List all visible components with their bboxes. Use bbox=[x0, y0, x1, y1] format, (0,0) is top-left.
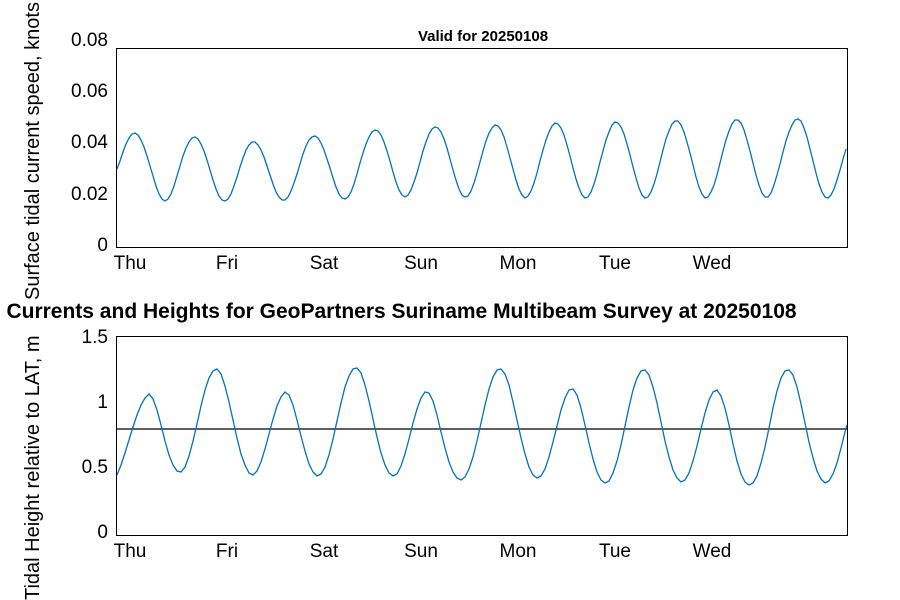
ytick-top-3: 0.06 bbox=[30, 81, 108, 103]
xtick-bot-0: Thu bbox=[90, 541, 170, 563]
xtick-top-4: Mon bbox=[478, 253, 558, 275]
ytick-top-4: 0.08 bbox=[30, 30, 108, 52]
ytick-bot-2: 1 bbox=[30, 392, 108, 414]
subtitle-valid-for: Valid for 20250108 bbox=[118, 28, 848, 45]
xtick-bot-3: Sun bbox=[381, 541, 461, 563]
xtick-top-2: Sat bbox=[284, 253, 364, 275]
figure-root: Valid for 20250108 Surface tidal current… bbox=[0, 0, 900, 600]
xtick-top-1: Fri bbox=[187, 253, 267, 275]
xtick-bot-4: Mon bbox=[478, 541, 558, 563]
ytick-top-1: 0.02 bbox=[30, 184, 108, 206]
plot-area-tidal-height bbox=[116, 336, 848, 536]
figure-title: Tidal Currents and Heights for GeoPartne… bbox=[0, 300, 797, 324]
xtick-top-0: Thu bbox=[90, 253, 170, 275]
xtick-bot-2: Sat bbox=[284, 541, 364, 563]
ytick-bot-3: 1.5 bbox=[30, 327, 108, 349]
xtick-top-6: Wed bbox=[672, 253, 752, 275]
ytick-top-2: 0.04 bbox=[30, 132, 108, 154]
xtick-top-3: Sun bbox=[381, 253, 461, 275]
plot-area-current-speed bbox=[116, 48, 848, 248]
tidal-height-plot bbox=[117, 337, 847, 535]
xtick-bot-1: Fri bbox=[187, 541, 267, 563]
ytick-bot-1: 0.5 bbox=[30, 457, 108, 479]
xtick-top-5: Tue bbox=[575, 253, 655, 275]
current-speed-curve bbox=[117, 49, 847, 247]
xtick-bot-6: Wed bbox=[672, 541, 752, 563]
xtick-bot-5: Tue bbox=[575, 541, 655, 563]
